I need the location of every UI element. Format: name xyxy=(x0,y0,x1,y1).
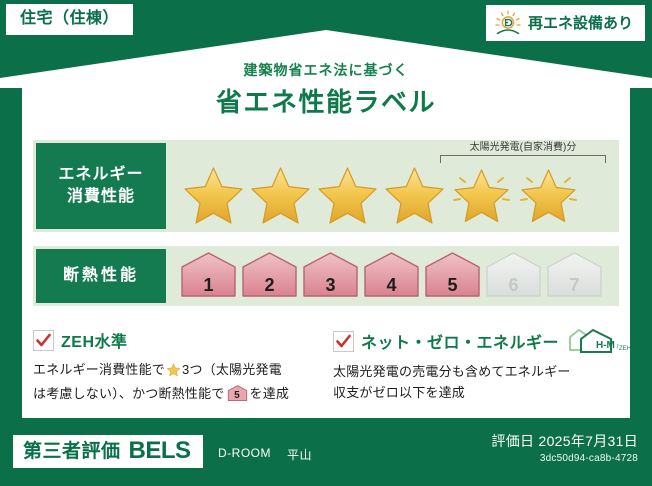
criterion-net-zero-energy: ネット・ゼロ・エネルギー H-M 「ZEH-M」 太陽光発電の売電分も含めてエネ… xyxy=(333,328,633,403)
building-type-chip: 住宅（住棟） xyxy=(6,4,133,35)
star-icon-solar xyxy=(515,162,582,226)
star-icon-solar xyxy=(448,162,515,226)
energy-performance-row: エネルギー 消費性能 太陽光発電(自家消費)分 xyxy=(33,140,619,232)
insulation-grade-badge: 3 xyxy=(302,251,359,300)
criterion-nze-text-1: 太陽光発電の売電分も含めてエネルギー xyxy=(333,364,571,379)
check-icon xyxy=(33,330,54,351)
star-rating xyxy=(180,162,613,226)
energy-key-line1: エネルギー xyxy=(58,164,143,186)
evaluation-info: 評価日 2025年7月31日 3dc50d94-ca8b-4728 xyxy=(491,433,638,464)
insulation-grade-number: 5 xyxy=(424,276,481,294)
insulation-grade-scale: 1 2 3 4 xyxy=(180,251,603,300)
insulation-grade-badge: 5 xyxy=(424,251,481,300)
label-subtitle: 建築物省エネ法に基づく xyxy=(0,60,652,80)
house-icon-inline: 5 xyxy=(227,385,248,402)
criterion-nze-header: ネット・ゼロ・エネルギー H-M 「ZEH-M」 xyxy=(333,328,633,354)
renewable-energy-badge: 再エネ設備あり xyxy=(486,5,645,41)
energy-row-key: エネルギー 消費性能 xyxy=(36,143,166,229)
bels-wordmark: BELS xyxy=(129,439,191,463)
star-icon xyxy=(381,162,448,226)
insulation-grade-number: 6 xyxy=(485,276,542,294)
insulation-row-key: 断熱性能 xyxy=(36,249,166,303)
insulation-grade-number: 7 xyxy=(546,276,603,294)
criterion-zeh-text-4: を達成 xyxy=(250,386,290,401)
energy-performance-label: 住宅（住棟） 再エネ設備あり 建築物省エネ法に基づく 省エ xyxy=(0,0,652,486)
project-building: 平山 xyxy=(287,446,312,463)
renewable-badge-label: 再エネ設備あり xyxy=(528,16,633,31)
zeh-m-logo-caption: 「ZEH-M」 xyxy=(613,345,630,352)
house-icon-inline-number: 5 xyxy=(227,391,248,401)
insulation-grade-badge-inactive: 7 xyxy=(546,251,603,300)
criterion-zeh-text-2: 3つ（太陽光発電 xyxy=(182,362,282,377)
zeh-m-logo-icon: H-M 「ZEH-M」 xyxy=(568,328,630,354)
criterion-zeh-text-3: は考慮しない）、かつ断熱性能で xyxy=(33,386,225,401)
insulation-grade-badge: 2 xyxy=(241,251,298,300)
insulation-grade-number: 3 xyxy=(302,276,359,294)
evaluation-date: 評価日 2025年7月31日 xyxy=(491,433,638,450)
insulation-row-value: 1 2 3 4 xyxy=(166,246,619,306)
bels-jp-label: 第三者評価 xyxy=(23,442,121,461)
building-type-label: 住宅（住棟） xyxy=(20,10,119,27)
solar-annotation-label: 太陽光発電(自家消費)分 xyxy=(440,142,606,153)
solar-annotation: 太陽光発電(自家消費)分 xyxy=(440,142,606,163)
star-icon-inline xyxy=(166,362,181,383)
star-icon xyxy=(314,162,381,226)
insulation-performance-row: 断熱性能 1 2 xyxy=(33,246,619,306)
insulation-grade-badge: 4 xyxy=(363,251,420,300)
energy-row-value: 太陽光発電(自家消費)分 xyxy=(166,140,619,232)
criterion-zeh: ZEH水準 エネルギー消費性能で3つ（太陽光発電は考慮しない）、かつ断熱性能で5… xyxy=(33,328,323,404)
evaluation-id: 3dc50d94-ca8b-4728 xyxy=(491,453,638,464)
criterion-zeh-text-1: エネルギー消費性能で xyxy=(33,362,165,377)
insulation-grade-number: 4 xyxy=(363,276,420,294)
criterion-nze-body: 太陽光発電の売電分も含めてエネルギー収支がゼロ以下を達成 xyxy=(333,361,633,403)
project-info: D-ROOM 平山 xyxy=(218,446,312,463)
insulation-grade-badge-inactive: 6 xyxy=(485,251,542,300)
star-icon xyxy=(180,162,247,226)
criterion-zeh-body: エネルギー消費性能で3つ（太陽光発電は考慮しない）、かつ断熱性能で5を達成 xyxy=(33,359,323,404)
star-icon xyxy=(247,162,314,226)
label-footer: 第三者評価 BELS D-ROOM 平山 評価日 2025年7月31日 3dc5… xyxy=(0,424,652,486)
criterion-zeh-title: ZEH水準 xyxy=(61,328,128,352)
insulation-grade-number: 1 xyxy=(180,276,237,294)
insulation-grade-badge: 1 xyxy=(180,251,237,300)
insulation-grade-number: 2 xyxy=(241,276,298,294)
solar-bracket xyxy=(440,155,606,163)
bels-badge: 第三者評価 BELS xyxy=(13,435,203,468)
label-title: 省エネ性能ラベル xyxy=(0,82,652,119)
criterion-nze-title: ネット・ゼロ・エネルギー xyxy=(361,329,559,353)
energy-key-line2: 消費性能 xyxy=(67,186,135,208)
project-name: D-ROOM xyxy=(218,446,271,463)
criterion-nze-text-2: 収支がゼロ以下を達成 xyxy=(333,385,465,400)
criterion-zeh-header: ZEH水準 xyxy=(33,328,323,352)
check-icon xyxy=(333,331,354,352)
sun-icon xyxy=(494,10,522,36)
